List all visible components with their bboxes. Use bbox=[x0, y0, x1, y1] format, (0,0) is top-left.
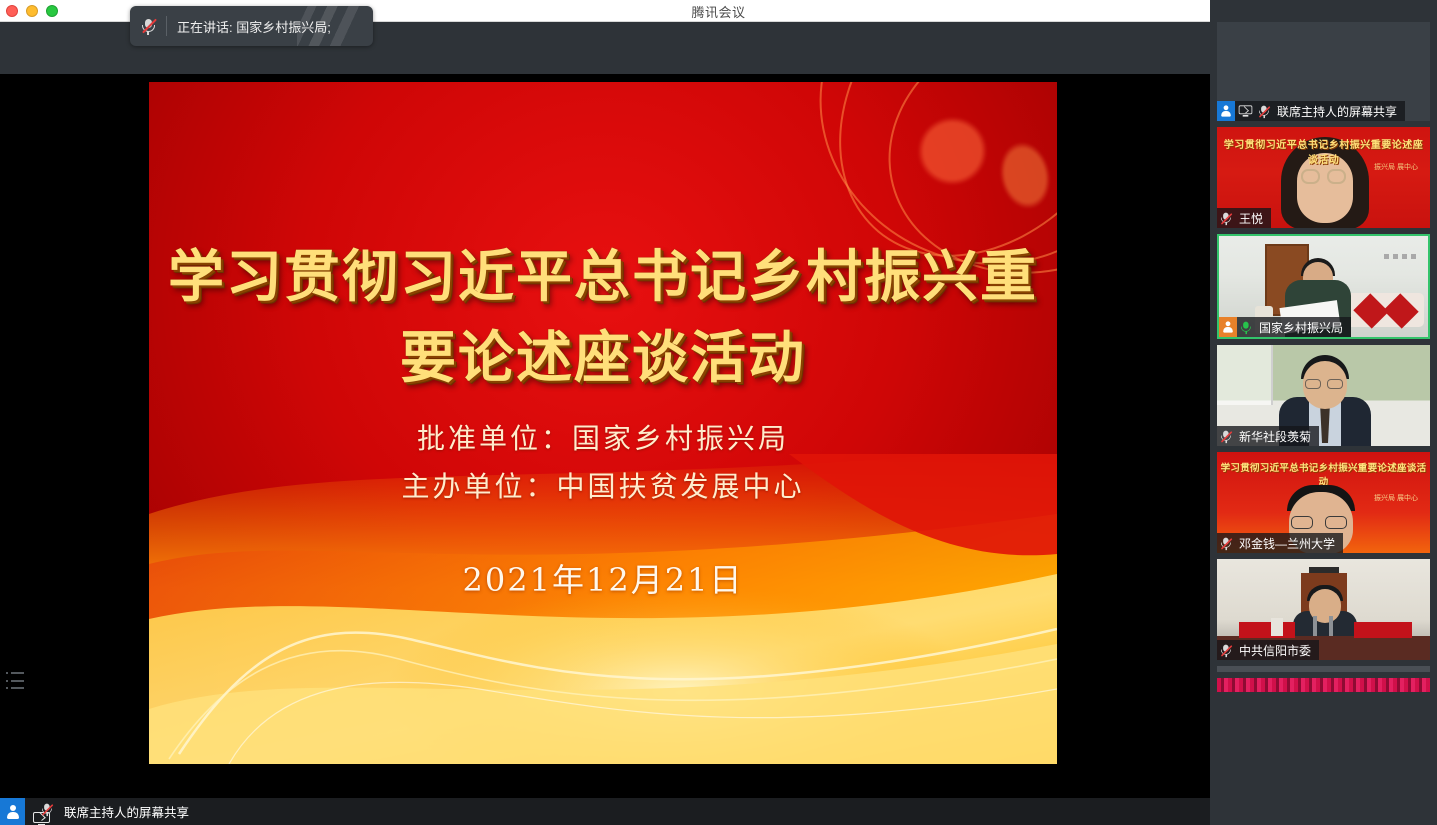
tile-name-label: 国家乡村振兴局 bbox=[1257, 319, 1343, 336]
mic-muted-icon bbox=[1217, 535, 1237, 552]
slide-organizer-line: 主办单位：中国扶贫发展中心 bbox=[149, 465, 1057, 505]
tile-overlay-text: 学习贯彻习近平总书记乡村振兴重要论述座谈活动 bbox=[1219, 460, 1428, 488]
participant-tile-screen-share[interactable]: 联席主持人的屏幕共享 bbox=[1217, 22, 1430, 121]
mic-muted-icon bbox=[1217, 642, 1237, 659]
person-icon bbox=[1217, 101, 1235, 121]
slide-title: 学习贯彻习近平总书记乡村振兴重要论述座谈活动 bbox=[149, 232, 1057, 394]
person-icon bbox=[1219, 317, 1237, 337]
tile-small-text: 振兴局 展中心 bbox=[1374, 161, 1418, 174]
screen-share-label: 联席主持人的屏幕共享 bbox=[64, 802, 189, 821]
tile-name-badge: 中共信阳市委 bbox=[1217, 640, 1319, 660]
person-icon bbox=[0, 798, 25, 825]
screen-share-icon bbox=[1235, 104, 1255, 118]
screen-share-status-bar[interactable]: 联席主持人的屏幕共享 bbox=[0, 798, 1210, 825]
mic-muted-icon bbox=[1217, 210, 1237, 227]
tile-name-badge: 王悦 bbox=[1217, 208, 1271, 228]
tile-name-label: 邓金钱—兰州大学 bbox=[1237, 535, 1335, 552]
tile-name-label: 王悦 bbox=[1237, 210, 1263, 227]
shared-screen-slide[interactable]: 学习贯彻习近平总书记乡村振兴重要论述座谈活动 批准单位：国家乡村振兴局 主办单位… bbox=[149, 82, 1057, 764]
participant-tile-partial[interactable] bbox=[1217, 678, 1430, 692]
slide-approver-line: 批准单位：国家乡村振兴局 bbox=[149, 417, 1057, 457]
tile-name-badge: 邓金钱—兰州大学 bbox=[1217, 533, 1343, 553]
mic-muted-icon bbox=[1217, 428, 1237, 445]
participant-tile-xinyang[interactable]: 中共信阳市委 bbox=[1217, 559, 1430, 660]
participant-tile-wangyue[interactable]: 学习贯彻习近平总书记乡村振兴重要论述座谈活动 振兴局 展中心 王悦 bbox=[1217, 127, 1430, 228]
list-icon[interactable] bbox=[6, 672, 26, 689]
mic-muted-icon bbox=[1255, 103, 1275, 120]
tile-name-label: 中共信阳市委 bbox=[1237, 642, 1311, 659]
participant-tile-xinhua[interactable]: 新华社段羡菊 bbox=[1217, 345, 1430, 446]
mic-muted-icon bbox=[130, 18, 166, 35]
slide-date: 2021年12月21日 bbox=[149, 555, 1057, 601]
participant-tile-dengjinqian[interactable]: 学习贯彻习近平总书记乡村振兴重要论述座谈活动 振兴局 展中心 邓金钱—兰州大学 bbox=[1217, 452, 1430, 553]
speaking-toast[interactable]: 正在讲话: 国家乡村振兴局; bbox=[130, 6, 373, 46]
tile-name-label: 联席主持人的屏幕共享 bbox=[1275, 103, 1397, 120]
meeting-window: 腾讯会议 正在讲话: 国家乡村振兴局; bbox=[0, 0, 1437, 825]
tile-name-label: 新华社段羡菊 bbox=[1237, 428, 1311, 445]
participant-tile-active-speaker[interactable]: 国家乡村振兴局 bbox=[1217, 234, 1430, 339]
tile-name-badge: 新华社段羡菊 bbox=[1217, 426, 1319, 446]
participant-tile-partial-top bbox=[1217, 666, 1430, 672]
tile-name-badge: 国家乡村振兴局 bbox=[1219, 317, 1351, 337]
tile-small-text: 振兴局 展中心 bbox=[1374, 492, 1418, 505]
participant-rail[interactable]: 联席主持人的屏幕共享 学习贯彻习近平总书记乡村振兴重要论述座谈活动 振兴局 展中… bbox=[1210, 0, 1437, 825]
speaking-toast-text: 正在讲话: 国家乡村振兴局; bbox=[167, 17, 331, 36]
mic-on-icon bbox=[1237, 319, 1257, 336]
tile-name-badge: 联席主持人的屏幕共享 bbox=[1217, 101, 1405, 121]
